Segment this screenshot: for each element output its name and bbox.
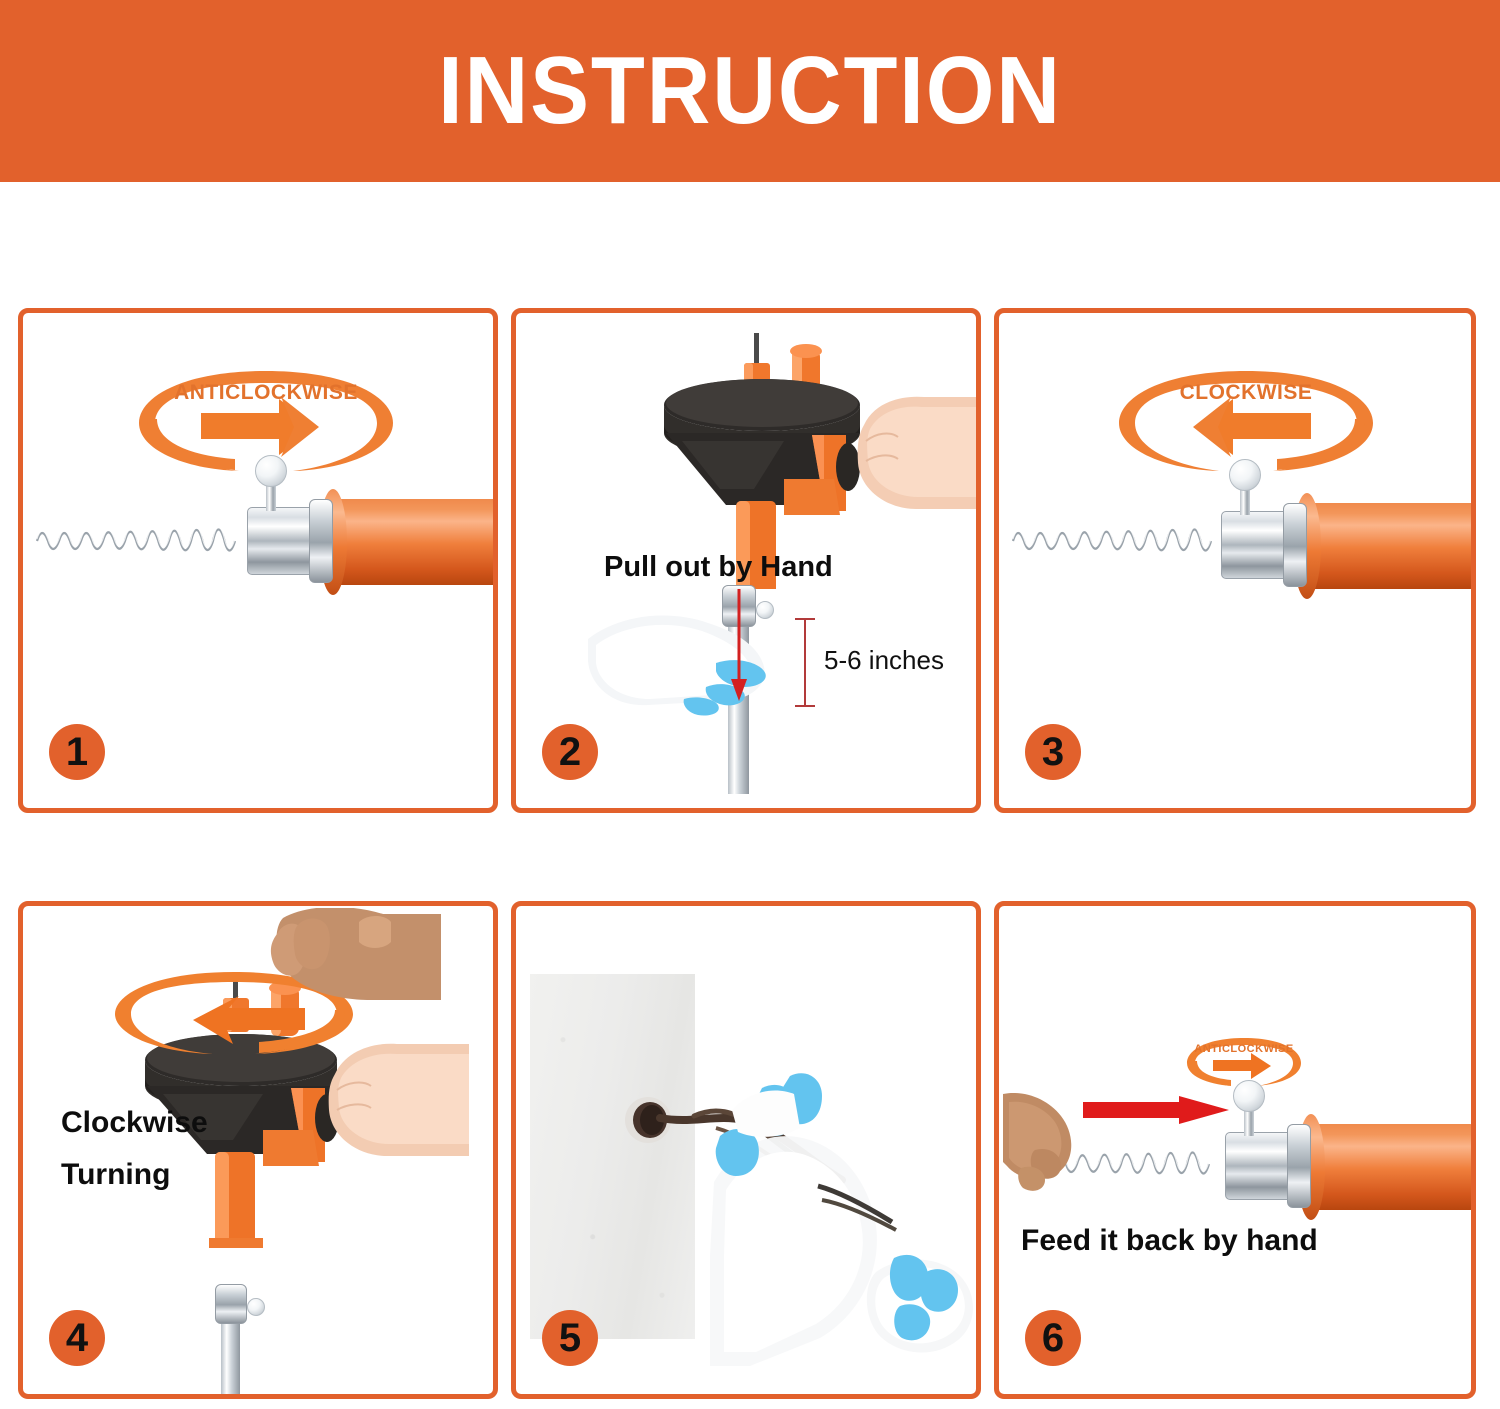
measurement-label: 5-6 inches <box>824 645 944 676</box>
step-number-badge: 2 <box>542 724 598 780</box>
measure-bracket-top-cap <box>795 618 815 620</box>
chuck-collar <box>309 499 333 583</box>
step-panel-3: CLOCKWISE 3 <box>994 308 1476 813</box>
orange-drain-pipe <box>331 499 498 585</box>
thumbscrew-head <box>255 455 287 487</box>
step-number-badge: 4 <box>49 1310 105 1366</box>
step-number-badge: 6 <box>1025 1310 1081 1366</box>
top-bare-hand <box>241 908 441 1028</box>
step-number-badge: 5 <box>542 1310 598 1366</box>
bare-hand-grip <box>846 389 981 519</box>
step-panel-4: Clockwise Turning 4 <box>18 901 498 1399</box>
step-number-badge: 1 <box>49 724 105 780</box>
step-panel-6: ANTICLOCKWISE <box>994 901 1476 1399</box>
pull-direction-arrow <box>728 589 750 703</box>
shaft-collar <box>215 1284 247 1324</box>
pull-out-caption: Pull out by Hand <box>604 551 833 584</box>
step-panel-1: ANTICLOCKWISE 1 <box>18 308 498 813</box>
thumbscrew-head <box>1233 1080 1265 1112</box>
shaft-thumbscrew <box>247 1298 265 1316</box>
feed-direction-arrow <box>1083 1094 1229 1126</box>
feed-back-caption: Feed it back by hand <box>1021 1224 1318 1258</box>
step-panel-5: 5 <box>511 901 981 1399</box>
clockwise-caption-line2: Turning <box>61 1158 170 1192</box>
pliers-tool <box>816 1174 936 1254</box>
instruction-steps-grid: ANTICLOCKWISE 1 <box>18 308 1482 1403</box>
step-panel-2: Pull out by Hand 5-6 inches <box>511 308 981 813</box>
measure-bracket-vertical <box>804 619 806 707</box>
side-hand-grip <box>319 1034 469 1164</box>
lower-shaft <box>221 1318 240 1398</box>
header-banner: INSTRUCTION <box>0 0 1500 182</box>
measure-bracket-bottom-cap <box>795 705 815 707</box>
thumbscrew-head <box>1229 459 1261 491</box>
chuck-coupler <box>1221 511 1291 579</box>
chuck-coupler <box>247 507 317 575</box>
page-title: INSTRUCTION <box>438 43 1062 139</box>
orange-drain-pipe <box>1305 503 1476 589</box>
chuck-coupler <box>1225 1132 1295 1200</box>
clockwise-caption-line1: Clockwise <box>61 1106 208 1140</box>
chuck-collar <box>1287 1124 1311 1208</box>
chuck-collar <box>1283 503 1307 587</box>
step-number-badge: 3 <box>1025 724 1081 780</box>
orange-drain-pipe <box>1309 1124 1473 1210</box>
